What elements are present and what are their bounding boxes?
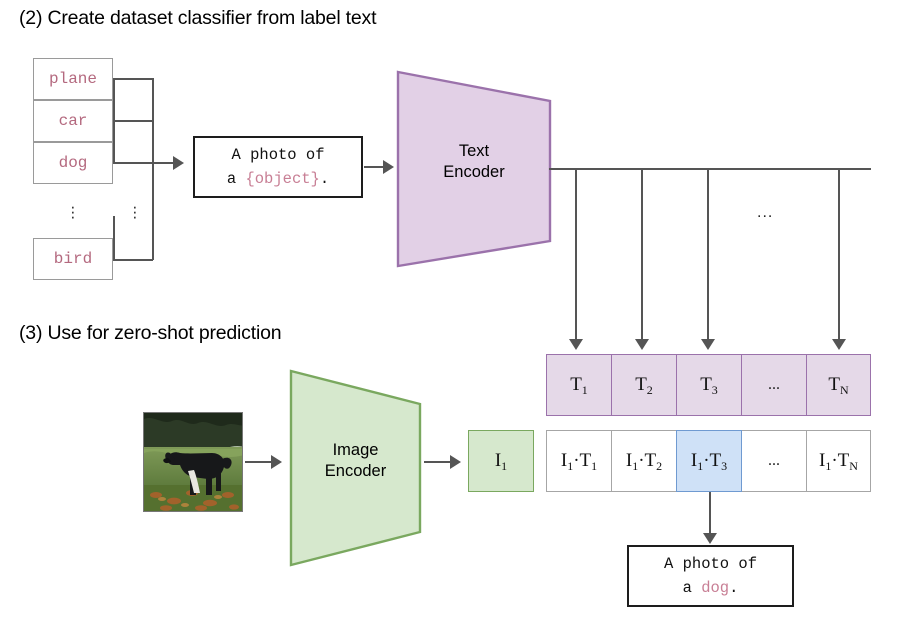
image-feature-cell: I1: [468, 430, 534, 492]
t-cell-2: T2: [611, 354, 677, 416]
similarity-cell-n-text: I1·TN: [819, 450, 858, 472]
label-box-car: car: [33, 100, 113, 142]
wire-text-encoder-bus: [549, 168, 871, 170]
prediction-line2-suffix: .: [729, 579, 738, 597]
wire-bird-horizontal: [113, 259, 153, 261]
prompt-line-2: a {object}.: [227, 167, 329, 191]
t-cell-n-text: TN: [828, 374, 848, 396]
input-image-dog: [143, 412, 243, 512]
similarity-cell-3-text: I1·T3: [691, 450, 727, 472]
image-encoder-label-line2: Encoder: [289, 461, 422, 482]
prompt-line2-suffix: .: [320, 170, 329, 188]
t-cell-1: T1: [546, 354, 612, 416]
wire-drop-1: [575, 168, 577, 340]
label-box-bird: bird: [33, 238, 113, 280]
label-text-bird: bird: [54, 250, 92, 268]
prompt-object-slot: {object}: [245, 170, 319, 188]
label-box-dog: dog: [33, 142, 113, 184]
similarity-cell-n: I1·TN: [806, 430, 871, 492]
t-cell-n: TN: [806, 354, 871, 416]
label-box-plane: plane: [33, 58, 113, 100]
similarity-cell-2-text: I1·T2: [626, 450, 662, 472]
t-cell-1-text: T1: [570, 374, 588, 396]
similarity-cell-ellipsis-text: ...: [768, 452, 780, 470]
prediction-line-1: A photo of: [664, 552, 757, 576]
prediction-line-2: a dog.: [683, 576, 739, 600]
arrow-photo-to-image-encoder-icon: [271, 455, 282, 469]
prompt-line-1: A photo of: [231, 143, 324, 167]
text-encoder-label: Text Encoder: [396, 141, 552, 182]
label-text-plane: plane: [49, 70, 97, 88]
prompt-template-box: A photo of a {object}.: [193, 136, 363, 198]
wire-drop-n: [838, 168, 840, 340]
similarity-cell-1-text: I1·T1: [561, 450, 597, 472]
wire-column-ellipsis-icon: ···: [132, 204, 138, 219]
similarity-cell-1: I1·T1: [546, 430, 612, 492]
t-cell-3-text: T3: [700, 374, 718, 396]
text-encoder-label-line1: Text: [396, 141, 552, 162]
section-3-heading: (3) Use for zero-shot prediction: [19, 322, 281, 345]
arrow-to-prediction-icon: [703, 533, 717, 544]
wire-photo-to-image-encoder: [245, 461, 273, 463]
arrow-prompt-to-text-encoder-icon: [383, 160, 394, 174]
image-encoder-label: Image Encoder: [289, 440, 422, 481]
arrow-to-tn-icon: [832, 339, 846, 350]
t-cell-ellipsis: ...: [741, 354, 807, 416]
wire-dog-to-prompt: [113, 162, 175, 164]
similarity-cell-ellipsis: ...: [741, 430, 807, 492]
text-encoder-label-line2: Encoder: [396, 162, 552, 183]
figure-canvas: (2) Create dataset classifier from label…: [0, 0, 906, 624]
wire-similarity-to-prediction: [709, 492, 711, 534]
prediction-box: A photo of a dog.: [627, 545, 794, 607]
wire-car-horizontal: [113, 120, 153, 122]
arrow-image-encoder-to-i1-icon: [450, 455, 461, 469]
wire-vertical-inner-1: [113, 78, 115, 120]
wire-drop-2: [641, 168, 643, 340]
wire-vertical-inner-2: [113, 120, 115, 162]
bus-ellipsis-label: ...: [757, 204, 773, 222]
t-cell-ellipsis-text: ...: [768, 376, 780, 394]
image-encoder-label-line1: Image: [289, 440, 422, 461]
label-text-dog: dog: [59, 154, 88, 172]
arrow-to-t2-icon: [635, 339, 649, 350]
t-cell-2-text: T2: [635, 374, 653, 396]
image-feature-text: I1: [495, 450, 507, 472]
label-column-ellipsis-icon: ···: [70, 204, 76, 219]
label-text-car: car: [59, 112, 88, 130]
prediction-class-label: dog: [701, 579, 729, 597]
arrow-to-t1-icon: [569, 339, 583, 350]
similarity-cell-2: I1·T2: [611, 430, 677, 492]
prediction-line2-prefix: a: [683, 579, 702, 597]
wire-vertical-inner-3: [113, 216, 115, 260]
image-encoder-block: Image Encoder: [289, 368, 422, 568]
input-image-dog-art: [144, 413, 243, 512]
section-2-heading: (2) Create dataset classifier from label…: [19, 7, 376, 30]
wire-plane-horizontal: [113, 78, 153, 80]
t-cell-3: T3: [676, 354, 742, 416]
prompt-line2-prefix: a: [227, 170, 246, 188]
text-encoder-block: Text Encoder: [396, 69, 552, 269]
wire-image-encoder-to-i1: [424, 461, 452, 463]
wire-vertical-bus: [152, 78, 154, 260]
arrow-to-t3-icon: [701, 339, 715, 350]
arrow-labels-to-prompt-icon: [173, 156, 184, 170]
wire-prompt-to-text-encoder: [364, 166, 384, 168]
similarity-cell-3: I1·T3: [676, 430, 742, 492]
wire-drop-3: [707, 168, 709, 340]
